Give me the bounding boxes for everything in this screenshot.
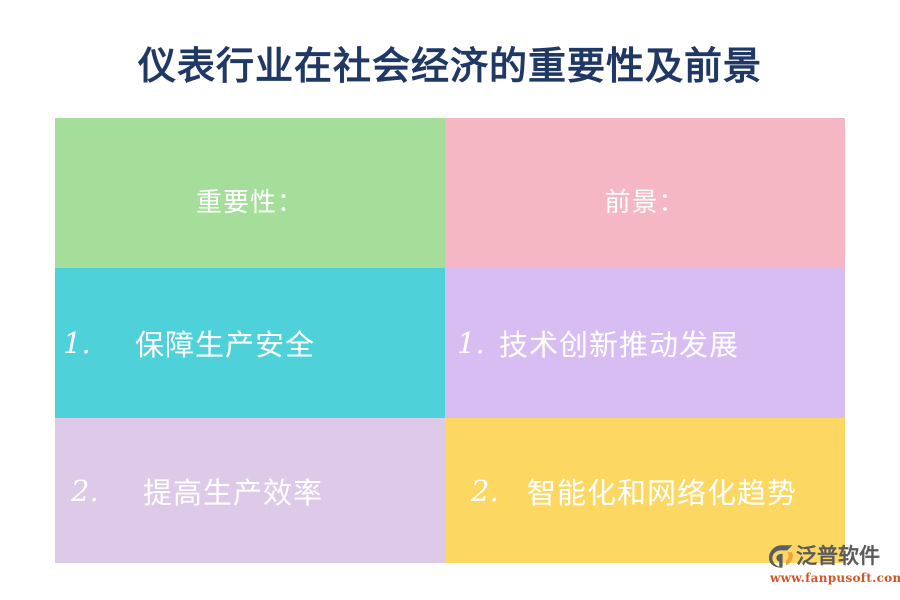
matrix-header-prospect-label: 前景： <box>604 182 685 219</box>
matrix-header-importance-label: 重要性： <box>196 182 304 219</box>
list-item-label: 技术创新推动发展 <box>499 322 739 364</box>
watermark: 泛普软件 www.fanpusoft.com <box>768 542 894 588</box>
watermark-url-label: www.fanpusoft.com <box>770 571 894 585</box>
matrix-header-importance: 重要性： <box>55 118 445 268</box>
page-title: 仪表行业在社会经济的重要性及前景 <box>0 44 900 88</box>
matrix-header-prospect: 前景： <box>445 118 845 268</box>
matrix-cell-importance-1: 1. 保障生产安全 <box>55 268 445 418</box>
list-item-label: 保障生产安全 <box>135 322 315 364</box>
watermark-brand-label: 泛普软件 <box>796 544 880 569</box>
watermark-brand-row: 泛普软件 <box>768 542 894 570</box>
list-item-label: 智能化和网络化趋势 <box>527 470 797 512</box>
list-item-label: 提高生产效率 <box>143 470 323 512</box>
list-number: 2. <box>71 474 143 508</box>
list-number: 1. <box>63 326 135 360</box>
comparison-matrix: 重要性： 前景： 1. 保障生产安全 1. 技术创新推动发展 2. 提高生产效率… <box>55 118 845 563</box>
list-number: 2. <box>471 474 527 508</box>
matrix-cell-importance-2: 2. 提高生产效率 <box>55 418 445 563</box>
list-number: 1. <box>457 326 499 360</box>
slide-canvas: 仪表行业在社会经济的重要性及前景 重要性： 前景： 1. 保障生产安全 1. 技… <box>0 0 900 600</box>
fanpu-logo-icon <box>768 544 794 569</box>
matrix-cell-prospect-1: 1. 技术创新推动发展 <box>445 268 845 418</box>
